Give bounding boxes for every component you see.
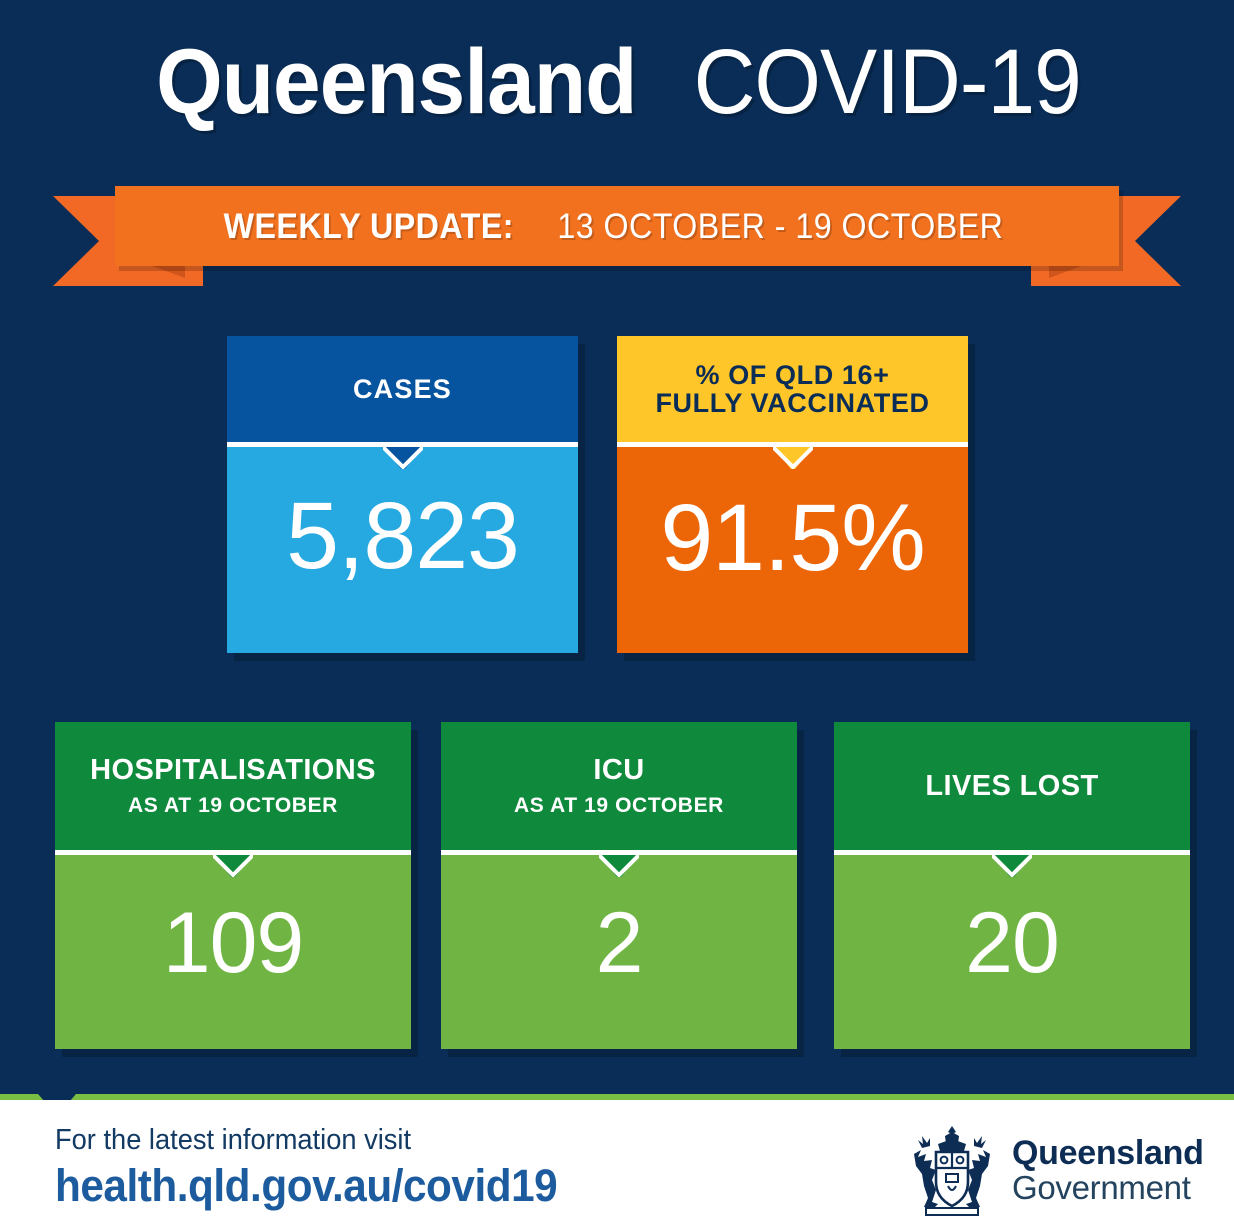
cases-body: 5,823	[227, 447, 578, 653]
ribbon-label: WEEKLY UPDATE:	[223, 209, 513, 244]
hospitalisations-notch-icon	[213, 855, 253, 877]
hospitalisations-title: HOSPITALISATIONS	[90, 755, 376, 785]
cases-header: CASES	[227, 336, 578, 442]
stat-card-cases: CASES 5,823	[227, 336, 578, 653]
cases-separator	[227, 442, 578, 447]
vaccinated-value: 91.5%	[660, 491, 924, 586]
footer-url-link[interactable]: health.qld.gov.au/covid19	[55, 1163, 557, 1208]
icu-separator	[441, 850, 797, 855]
icu-body: 2	[441, 855, 797, 1049]
ribbon-band: WEEKLY UPDATE:13 OCTOBER - 19 OCTOBER	[115, 186, 1119, 266]
lives-lost-value: 20	[965, 900, 1059, 986]
hospitalisations-header: HOSPITALISATIONS AS AT 19 OCTOBER	[55, 722, 411, 850]
lives-lost-header: LIVES LOST	[834, 722, 1190, 850]
vaccinated-separator	[617, 442, 968, 447]
vaccinated-notch-icon	[773, 447, 813, 469]
icu-subtitle: AS AT 19 OCTOBER	[514, 794, 724, 817]
stat-card-lives-lost: LIVES LOST 20	[834, 722, 1190, 1049]
queensland-government-logo: Queensland Government	[908, 1124, 1204, 1216]
stat-card-hospitalisations: HOSPITALISATIONS AS AT 19 OCTOBER 109	[55, 722, 411, 1049]
stat-card-vaccinated: % OF QLD 16+ FULLY VACCINATED 91.5%	[617, 336, 968, 653]
logo-wordmark: Queensland Government	[1012, 1136, 1204, 1204]
ribbon-text: WEEKLY UPDATE:13 OCTOBER - 19 OCTOBER	[211, 209, 1023, 244]
icu-notch-icon	[599, 855, 639, 877]
hospitalisations-subtitle: AS AT 19 OCTOBER	[128, 794, 338, 817]
cases-title: CASES	[353, 375, 452, 403]
vaccinated-body: 91.5%	[617, 447, 968, 653]
page-title: Queensland COVID-19	[0, 36, 1234, 128]
vaccinated-title-line1: % OF QLD 16+	[696, 361, 890, 389]
cases-value: 5,823	[286, 489, 519, 584]
vaccinated-header: % OF QLD 16+ FULLY VACCINATED	[617, 336, 968, 442]
logo-line2: Government	[1012, 1171, 1204, 1205]
lives-lost-body: 20	[834, 855, 1190, 1049]
cases-notch-icon	[383, 447, 423, 469]
hospitalisations-separator	[55, 850, 411, 855]
vaccinated-title-line2: FULLY VACCINATED	[655, 389, 929, 417]
hospitalisations-body: 109	[55, 855, 411, 1049]
lives-lost-separator	[834, 850, 1190, 855]
ribbon-dates: 13 OCTOBER - 19 OCTOBER	[558, 209, 1004, 244]
stat-card-icu: ICU AS AT 19 OCTOBER 2	[441, 722, 797, 1049]
infographic-canvas: Queensland COVID-19 WEEKLY UPDATE:13 OCT…	[0, 0, 1234, 1230]
logo-line1: Queensland	[1012, 1136, 1204, 1171]
title-bold: Queensland	[156, 36, 636, 128]
lives-lost-notch-icon	[992, 855, 1032, 877]
hospitalisations-value: 109	[163, 900, 304, 986]
icu-header: ICU AS AT 19 OCTOBER	[441, 722, 797, 850]
weekly-update-ribbon: WEEKLY UPDATE:13 OCTOBER - 19 OCTOBER	[0, 186, 1234, 290]
footer: For the latest information visit health.…	[0, 1100, 1234, 1230]
coat-of-arms-icon	[908, 1124, 996, 1216]
title-light: COVID-19	[694, 36, 1081, 128]
footer-intro-text: For the latest information visit	[55, 1126, 411, 1155]
icu-value: 2	[596, 900, 643, 986]
lives-lost-title: LIVES LOST	[925, 771, 1098, 801]
icu-title: ICU	[593, 755, 644, 785]
